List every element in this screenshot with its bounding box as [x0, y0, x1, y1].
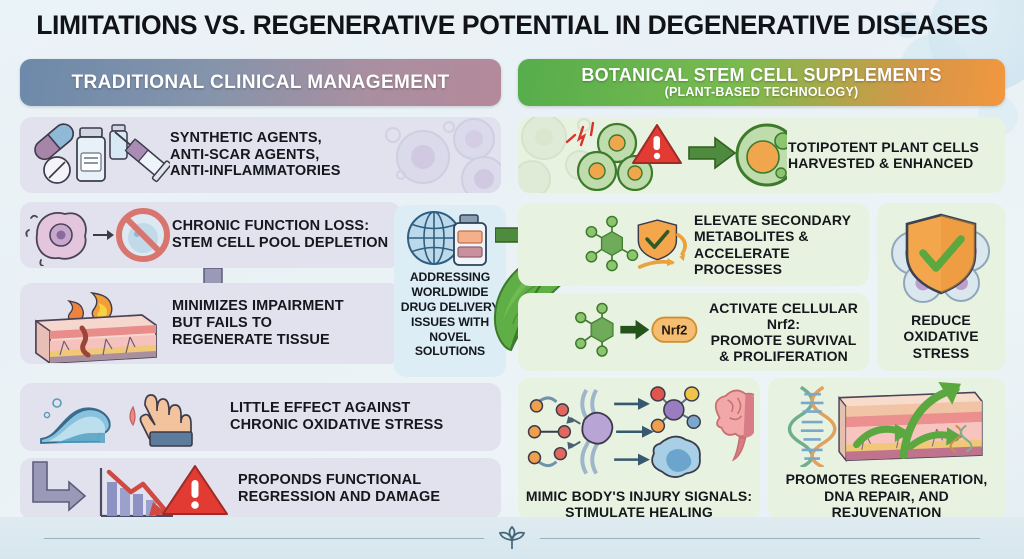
card-promotes-regeneration-label: PROMOTES REGENERATION, DNA REPAIR, AND R…: [768, 471, 1005, 520]
column-header-right-label: BOTANICAL STEM CELL SUPPLEMENTS: [581, 66, 941, 84]
column-header-traditional: TRADITIONAL CLINICAL MANAGEMENT: [20, 59, 501, 106]
regression-icons-group: [20, 458, 238, 520]
text-line: CHRONIC FUNCTION LOSS:: [172, 218, 388, 235]
damaged-skin-tissue-icon: [22, 285, 170, 363]
text-line: TOTIPOTENT PLANT CELLS: [788, 139, 979, 155]
text-line: DNA REPAIR, AND REJUVENATION: [768, 488, 1005, 520]
card-totipotent-label: TOTIPOTENT PLANT CELLS HARVESTED & ENHAN…: [788, 139, 979, 171]
card-elevate-metabolites: ELEVATE SECONDARY METABOLITES & ACCELERA…: [518, 203, 869, 286]
signal-pathway-brain-icon: [524, 384, 754, 480]
text-line: REGRESSION AND DAMAGE: [238, 489, 440, 506]
text-line: ANTI-INFLAMMATORIES: [170, 163, 341, 180]
medication-icon-set: [20, 120, 170, 190]
molecule-nrf2-badge-icon: Nrf2: [564, 295, 698, 369]
card-chronic-function-loss: CHRONIC FUNCTION LOSS: STEM CELL POOL DE…: [20, 202, 401, 268]
sprout-logo-icon: [497, 524, 527, 552]
cell-cluster-watermark-icon: [371, 117, 501, 193]
footer-divider-right: [540, 538, 980, 539]
column-header-botanical: BOTANICAL STEM CELL SUPPLEMENTS (PLANT-B…: [518, 59, 1005, 106]
text-line: REDUCE: [903, 312, 978, 328]
card-elevate-metabolites-label: ELEVATE SECONDARY METABOLITES & ACCELERA…: [694, 212, 869, 277]
text-line: & PROLIFERATION: [698, 348, 869, 364]
text-line: CHRONIC OXIDATIVE STRESS: [230, 417, 443, 434]
medication-icons-group: [20, 117, 170, 193]
text-line: REGENERATE TISSUE: [172, 332, 344, 349]
card-activate-nrf2: Nrf2 ACTIVATE CELLULAR Nrf2: PROMOTE SUR…: [518, 293, 869, 371]
text-line: MIMIC BODY'S INJURY SIGNALS:: [526, 488, 752, 504]
card-mimic-injury-label: MIMIC BODY'S INJURY SIGNALS: STIMULATE H…: [526, 488, 752, 520]
text-line: SYNTHETIC AGENTS,: [170, 130, 341, 147]
depletion-icons-group: [20, 202, 172, 268]
text-line: ACCELERATE PROCESSES: [694, 245, 869, 277]
infographic-canvas: LIMITATIONS VS. REGENERATIVE POTENTIAL I…: [0, 0, 1024, 559]
card-mimic-injury-signals: MIMIC BODY'S INJURY SIGNALS: STIMULATE H…: [518, 378, 760, 520]
card-proponds-regression: PROPONDS FUNCTIONAL REGRESSION AND DAMAG…: [20, 458, 501, 520]
card-little-effect-oxidative: LITTLE EFFECT AGAINST CHRONIC OXIDATIVE …: [20, 383, 501, 451]
text-line: ACTIVATE CELLULAR Nrf2:: [698, 300, 869, 332]
text-line: STEM CELL POOL DEPLETION: [172, 235, 388, 252]
text-line: PROPONDS FUNCTIONAL: [238, 472, 440, 489]
card-synthetic-agents: SYNTHETIC AGENTS, ANTI-SCAR AGENTS, ANTI…: [20, 117, 501, 193]
text-line: ANTI-SCAR AGENTS,: [170, 147, 341, 164]
text-line: ELEVATE SECONDARY: [694, 212, 869, 228]
card-chronic-function-loss-label: CHRONIC FUNCTION LOSS: STEM CELL POOL DE…: [172, 218, 388, 252]
card-synthetic-agents-label: SYNTHETIC AGENTS, ANTI-SCAR AGENTS, ANTI…: [170, 130, 341, 180]
declining-chart-warning-icon: [23, 458, 235, 520]
card-reduce-oxidative-label: REDUCE OXIDATIVE STRESS: [903, 312, 978, 361]
damaged-tissue-icons-group: [20, 283, 172, 364]
card-promotes-regeneration: PROMOTES REGENERATION, DNA REPAIR, AND R…: [768, 378, 1005, 520]
dna-skin-regeneration-icon: [774, 382, 1000, 467]
shield-check-over-cells-icon: [885, 213, 997, 305]
text-line: BUT FAILS TO: [172, 315, 344, 332]
card-minimizes-impairment: MINIMIZES IMPAIRMENT BUT FAILS TO REGENE…: [20, 283, 401, 364]
column-header-right-sublabel: (PLANT-BASED TECHNOLOGY): [665, 85, 859, 99]
card-reduce-oxidative-stress: REDUCE OXIDATIVE STRESS: [877, 203, 1005, 371]
footer-divider-left: [44, 538, 484, 539]
svg-text:Nrf2: Nrf2: [661, 322, 687, 337]
molecule-shield-arrow-icon: [568, 205, 694, 285]
card-proponds-regression-label: PROPONDS FUNCTIONAL REGRESSION AND DAMAG…: [238, 472, 440, 506]
nrf2-icons-group: Nrf2: [518, 293, 698, 371]
stem-cell-depletion-icon: [21, 204, 171, 266]
text-line: MINIMIZES IMPAIRMENT: [172, 298, 344, 315]
card-little-effect-label: LITTLE EFFECT AGAINST CHRONIC OXIDATIVE …: [230, 400, 443, 434]
page-title: LIMITATIONS VS. REGENERATIVE POTENTIAL I…: [0, 10, 1024, 41]
wave-stop-hand-icon: [25, 385, 225, 449]
text-line: HARVESTED & ENHANCED: [788, 155, 979, 171]
card-minimizes-impairment-label: MINIMIZES IMPAIRMENT BUT FAILS TO REGENE…: [172, 298, 344, 348]
text-line: LITTLE EFFECT AGAINST: [230, 400, 443, 417]
text-line: PROMOTE SURVIVAL: [698, 332, 869, 348]
text-line: PROMOTES REGENERATION,: [768, 471, 1005, 487]
wave-hand-icons-group: [20, 383, 230, 451]
plant-cell-icons-group: [518, 117, 788, 193]
card-activate-nrf2-label: ACTIVATE CELLULAR Nrf2: PROMOTE SURVIVAL…: [698, 300, 869, 365]
text-line: OXIDATIVE: [903, 328, 978, 344]
metabolite-icons-group: [518, 203, 694, 286]
text-line: METABOLITES &: [694, 228, 869, 244]
footer-bar: [0, 517, 1024, 559]
card-totipotent-plant-cells: TOTIPOTENT PLANT CELLS HARVESTED & ENHAN…: [518, 117, 1005, 193]
text-line: STRESS: [903, 345, 978, 361]
plant-cell-harvest-icon: [519, 119, 787, 191]
column-header-left-label: TRADITIONAL CLINICAL MANAGEMENT: [72, 72, 450, 94]
